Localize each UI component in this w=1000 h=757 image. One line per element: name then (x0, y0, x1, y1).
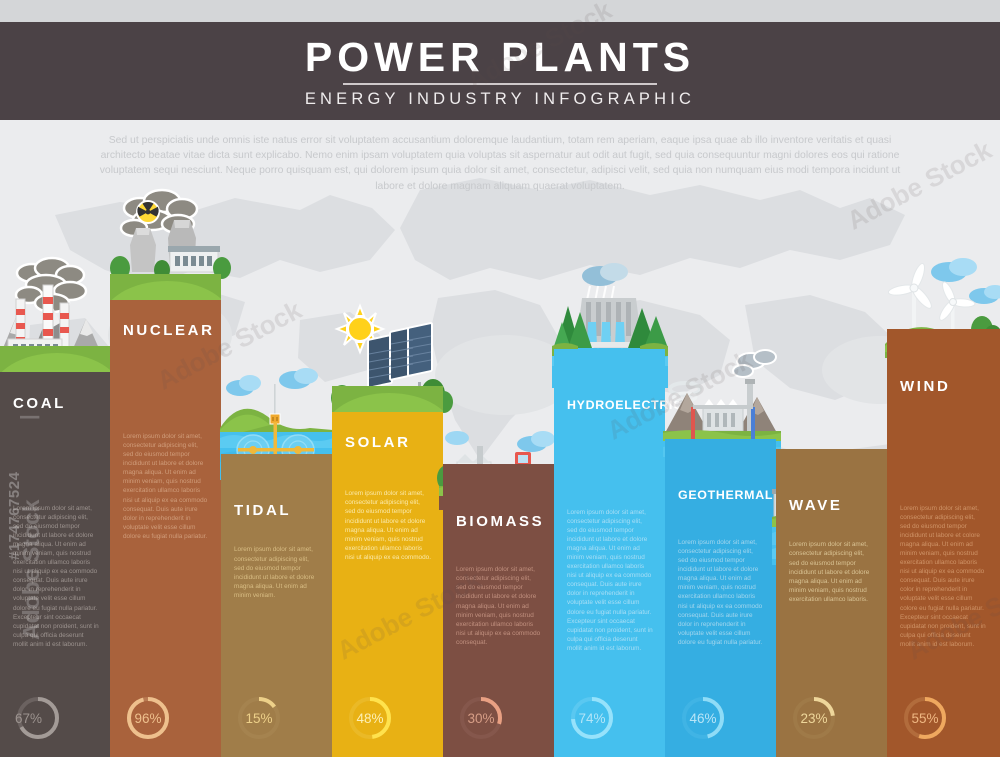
tidal-grass-strip (221, 454, 332, 480)
column-biomass[interactable]: BIOMASS Lorem ipsum dolor sit amet, cons… (443, 120, 554, 757)
wind-label: WIND (900, 378, 950, 395)
solar-percent-donut: 48% (345, 693, 395, 743)
hydroelectric-description: Lorem ipsum dolor sit amet, consectetur … (567, 508, 653, 654)
wave-grass-strip (776, 449, 887, 475)
page-subtitle: ENERGY INDUSTRY INFOGRAPHIC (0, 90, 1000, 108)
nuclear-label: NUCLEAR (123, 322, 215, 339)
biomass-percent-value: 30% (456, 693, 506, 743)
geothermal-percent-donut: 46% (678, 693, 728, 743)
column-hydroelectric[interactable]: HYDROELECTRIC Lorem ipsum dolor sit amet… (554, 120, 665, 757)
tidal-percent-donut: 15% (234, 693, 284, 743)
tidal-description: Lorem ipsum dolor sit amet, consectetur … (234, 545, 320, 600)
geothermal-grass-strip (665, 439, 776, 465)
biomass-percent-donut: 30% (456, 693, 506, 743)
title-divider (343, 83, 657, 85)
wave-description: Lorem ipsum dolor sit amet, consectetur … (789, 540, 875, 604)
wind-grass-strip (887, 329, 1000, 355)
coal-percent-donut: 67% (13, 693, 63, 743)
column-wave[interactable]: WAVE Lorem ipsum dolor sit amet, consect… (776, 120, 887, 757)
column-solar[interactable]: SOLAR Lorem ipsum dolor sit amet, consec… (332, 120, 443, 757)
coal-grass-strip (0, 346, 111, 372)
column-tidal[interactable]: TIDAL Lorem ipsum dolor sit amet, consec… (221, 120, 332, 757)
hydro-percent-donut: 74% (567, 693, 617, 743)
biomass-description: Lorem ipsum dolor sit amet, consectetur … (456, 565, 542, 647)
watermark-stock-code: #174767524 (6, 472, 23, 560)
top-bar (0, 0, 1000, 22)
column-coal[interactable]: COAL Lorem ipsum dolor sit amet, consect… (0, 120, 111, 757)
hydro-percent-value: 74% (567, 693, 617, 743)
columns-container: COAL Lorem ipsum dolor sit amet, consect… (0, 120, 1000, 757)
column-geothermal[interactable]: GEOTHERMAL Lorem ipsum dolor sit amet, c… (665, 120, 776, 757)
infographic-canvas: POWER PLANTS ENERGY INDUSTRY INFOGRAPHIC (0, 0, 1000, 757)
wind-percent-donut: 55% (900, 693, 950, 743)
hydro-grass-strip (554, 349, 665, 375)
wave-percent-donut: 23% (789, 693, 839, 743)
geothermal-description: Lorem ipsum dolor sit amet, consectetur … (678, 538, 764, 647)
column-wind[interactable]: WIND Lorem ipsum dolor sit amet, consect… (887, 120, 1000, 757)
tidal-label: TIDAL (234, 502, 291, 519)
geothermal-label: GEOTHERMAL (678, 488, 773, 502)
solar-description: Lorem ipsum dolor sit amet, consectetur … (345, 489, 431, 562)
page-title: POWER PLANTS (0, 22, 1000, 80)
solar-label: SOLAR (345, 434, 411, 451)
tidal-percent-value: 15% (234, 693, 284, 743)
solar-grass-strip (332, 386, 443, 412)
coal-percent-value: 67% (13, 693, 63, 743)
coal-description: Lorem ipsum dolor sit amet, consectetur … (13, 504, 99, 650)
solar-percent-value: 48% (345, 693, 395, 743)
wave-label: WAVE (789, 497, 842, 514)
header-banner: POWER PLANTS ENERGY INDUSTRY INFOGRAPHIC (0, 22, 1000, 120)
biomass-label: BIOMASS (456, 513, 544, 530)
geothermal-percent-value: 46% (678, 693, 728, 743)
wind-percent-value: 55% (900, 693, 950, 743)
wave-percent-value: 23% (789, 693, 839, 743)
biomass-grass-strip (443, 464, 554, 490)
nuclear-description: Lorem ipsum dolor sit amet, consectetur … (123, 432, 209, 541)
nuclear-percent-donut: 96% (123, 693, 173, 743)
coal-label: COAL (13, 395, 66, 412)
nuclear-grass-strip (110, 274, 221, 300)
column-nuclear[interactable]: NUCLEAR Lorem ipsum dolor sit amet, cons… (110, 120, 221, 757)
nuclear-percent-value: 96% (123, 693, 173, 743)
wind-description: Lorem ipsum dolor sit amet, consectetur … (900, 504, 986, 650)
